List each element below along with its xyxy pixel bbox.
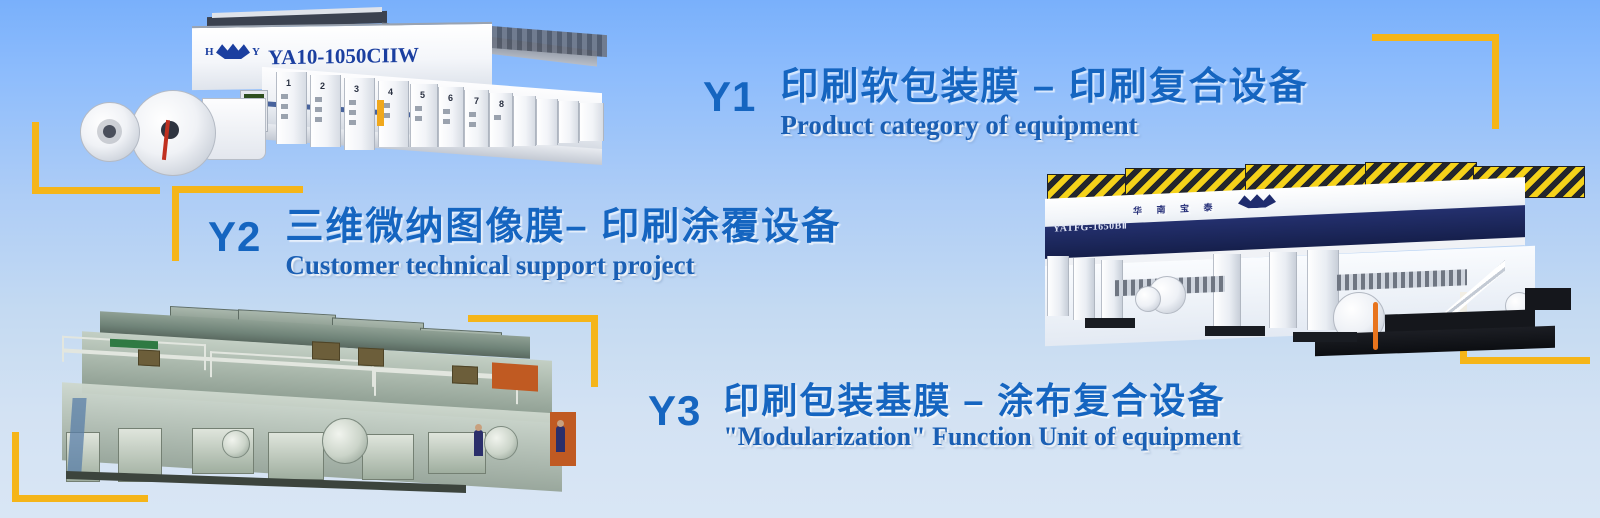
machine-photo-coating-line: 华 南 宝 泰 YATFG-1650BⅡ <box>985 160 1590 370</box>
y2-title-en: Customer technical support project <box>285 251 841 279</box>
y2-title-cn: 三维微纳图像膜– 印刷涂覆设备 <box>285 208 841 248</box>
press-unit-detail <box>281 94 288 99</box>
y1-code-label: Y1 <box>703 76 756 118</box>
press-unit-detail <box>315 117 322 122</box>
press-unwind-roll-small <box>80 102 140 162</box>
bracket-y2-left <box>172 186 179 261</box>
coating-support-column <box>1269 252 1297 328</box>
bracket-y1-top <box>1372 34 1499 41</box>
press-unit-detail <box>415 116 422 121</box>
coating-drive-assembly <box>1525 288 1571 310</box>
paper-machine-reel-stack <box>492 362 538 391</box>
machine-photo-paper-machine <box>22 302 582 492</box>
press-print-unit: 3 <box>344 78 375 150</box>
press-model-label: YA10-1050CIIW <box>268 43 419 71</box>
coating-machine-foot <box>1293 332 1357 342</box>
press-unit-detail <box>469 112 476 117</box>
bracket-y1-right <box>1492 34 1499 129</box>
y3-titles: 印刷包装基膜 – 涂布复合设备 "Modularization" Functio… <box>723 382 1240 450</box>
coating-unwind-drum <box>1135 286 1161 312</box>
paper-machine-cabinet <box>268 432 324 480</box>
bird-logo-icon <box>216 43 250 59</box>
press-print-unit <box>536 99 558 145</box>
press-roll-hub-ring <box>97 119 122 144</box>
press-print-unit: 5 <box>410 84 438 147</box>
paper-machine-operator <box>474 430 483 456</box>
banner-container: 1 2 3 4 5 6 7 8 <box>0 0 1600 518</box>
paper-machine-reel <box>484 426 518 460</box>
text-group-y3: Y3 印刷包装基膜 – 涂布复合设备 "Modularization" Func… <box>648 382 1241 450</box>
coating-support-column <box>1047 256 1069 316</box>
coating-machine-foot <box>1205 326 1265 336</box>
paper-machine-reel <box>222 430 250 458</box>
press-unit-number: 8 <box>499 99 504 109</box>
press-print-unit <box>513 96 536 146</box>
y3-title-cn: 印刷包装基膜 – 涂布复合设备 <box>723 382 1240 420</box>
bracket-press-left <box>32 122 39 194</box>
press-print-unit: 2 <box>310 75 341 147</box>
press-unit-number: 2 <box>320 81 325 91</box>
y3-code-label: Y3 <box>648 390 701 432</box>
press-unit-number: 5 <box>420 90 425 100</box>
press-unit-number: 3 <box>354 84 359 94</box>
paper-machine-motor <box>138 349 160 366</box>
press-unit-number: 1 <box>286 78 291 88</box>
bracket-press-bottom <box>32 187 160 194</box>
press-unit-detail <box>349 110 356 115</box>
press-unit-detail <box>494 115 501 120</box>
paper-machine-motor <box>358 347 384 366</box>
press-print-unit: 8 <box>489 93 513 147</box>
paper-machine-operator <box>556 426 565 452</box>
press-unit-detail <box>349 100 356 105</box>
bracket-y3-mid <box>591 315 598 387</box>
press-brand-letter-left: H <box>205 46 214 58</box>
press-unit-detail <box>281 114 288 119</box>
press-unit-detail <box>281 104 288 109</box>
bracket-paper-bottom <box>12 495 148 502</box>
press-brand-letter-right: Y <box>252 46 260 58</box>
press-unit-detail <box>443 119 450 124</box>
bracket-y2-top <box>172 186 303 193</box>
paper-machine-motor <box>452 365 478 384</box>
paper-machine-cabinet <box>362 434 414 480</box>
machine-photo-printing-press: 1 2 3 4 5 6 7 8 <box>52 2 610 172</box>
text-group-y2: Y2 三维微纳图像膜– 印刷涂覆设备 Customer technical su… <box>208 208 841 279</box>
press-exit-unit <box>579 103 604 141</box>
y1-titles: 印刷软包装膜 – 印刷复合设备 Product category of equi… <box>780 68 1308 139</box>
press-print-unit <box>558 101 579 143</box>
y3-title-en: "Modularization" Function Unit of equipm… <box>723 423 1240 450</box>
press-brand-logo: H Y <box>204 42 264 64</box>
y1-title-en: Product category of equipment <box>780 111 1308 139</box>
press-unit-detail <box>443 109 450 114</box>
y2-titles: 三维微纳图像膜– 印刷涂覆设备 Customer technical suppo… <box>285 208 841 279</box>
text-group-y1: Y1 印刷软包装膜 – 印刷复合设备 Product category of e… <box>703 68 1309 139</box>
press-print-unit: 7 <box>464 90 489 147</box>
press-unit-detail <box>415 106 422 111</box>
press-unit-detail <box>315 107 322 112</box>
bracket-paper-left <box>12 432 19 502</box>
press-unit-detail <box>383 113 390 118</box>
press-unit-number: 7 <box>474 96 479 106</box>
y1-title-cn: 印刷软包装膜 – 印刷复合设备 <box>780 68 1308 108</box>
paper-machine-motor <box>312 341 340 360</box>
press-unit-detail <box>383 103 390 108</box>
press-yellow-marker <box>377 100 384 126</box>
coating-hose <box>1373 302 1378 350</box>
press-unit-detail <box>469 122 476 127</box>
press-unit-number: 6 <box>448 93 453 103</box>
paper-machine-reel <box>322 418 368 464</box>
coating-support-column <box>1073 258 1095 320</box>
press-unit-number: 4 <box>388 87 393 97</box>
press-unwind-roll-large <box>130 90 216 176</box>
press-print-unit: 1 <box>276 72 307 144</box>
y2-code-label: Y2 <box>208 216 261 258</box>
coating-machine-foot <box>1085 318 1135 328</box>
press-unit-detail <box>349 120 356 125</box>
press-unit-detail <box>315 97 322 102</box>
press-print-unit: 6 <box>438 87 464 147</box>
